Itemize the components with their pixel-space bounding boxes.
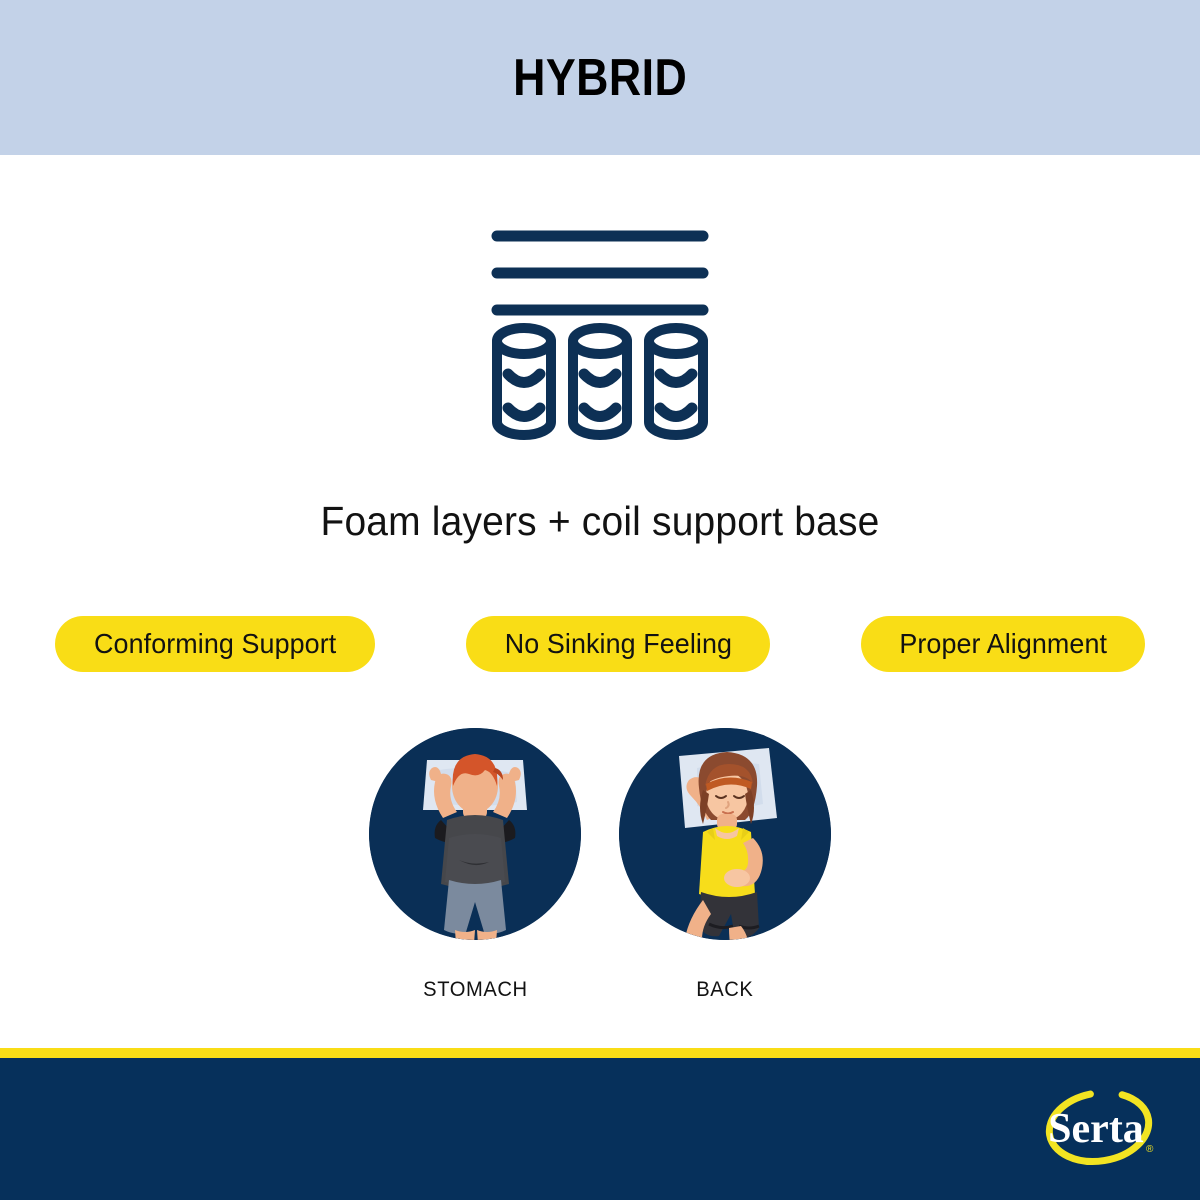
serta-logo-text: Serta xyxy=(1048,1106,1144,1152)
benefit-pill-label: No Sinking Feeling xyxy=(504,628,731,660)
subtitle-text: Foam layers + coil support base xyxy=(30,498,1170,545)
hybrid-mattress-coils-icon xyxy=(485,222,715,442)
benefit-pill-label: Proper Alignment xyxy=(899,628,1107,660)
back-sleeper-illustration xyxy=(619,728,831,940)
sleep-position-label: BACK xyxy=(696,978,753,1002)
benefit-pill-conforming-support[interactable]: Conforming Support xyxy=(55,616,375,672)
back-sleeper-circle xyxy=(619,728,831,940)
serta-trademark-symbol: ® xyxy=(1146,1144,1154,1155)
sleep-position-back[interactable]: BACK xyxy=(619,728,831,1002)
hybrid-mattress-infographic: HYBRID xyxy=(0,0,1200,1200)
sleep-position-stomach[interactable]: STOMACH xyxy=(369,728,581,1002)
benefit-pill-row: Conforming Support No Sinking Feeling Pr… xyxy=(55,616,1145,672)
benefit-pill-proper-alignment[interactable]: Proper Alignment xyxy=(861,616,1145,672)
footer-band xyxy=(0,1058,1200,1200)
sleep-position-label: STOMACH xyxy=(423,978,527,1002)
footer-accent-stripe xyxy=(0,1048,1200,1058)
hybrid-icon-container xyxy=(0,222,1200,442)
stomach-sleeper-illustration xyxy=(369,728,581,940)
header-band: HYBRID xyxy=(0,0,1200,155)
sleep-position-row: STOMACH xyxy=(0,728,1200,1002)
benefit-pill-no-sinking-feeling[interactable]: No Sinking Feeling xyxy=(466,616,771,672)
benefit-pill-label: Conforming Support xyxy=(94,628,336,660)
serta-logo[interactable]: Serta ® xyxy=(1038,1082,1164,1174)
page-title: HYBRID xyxy=(513,52,687,104)
stomach-sleeper-circle xyxy=(369,728,581,940)
